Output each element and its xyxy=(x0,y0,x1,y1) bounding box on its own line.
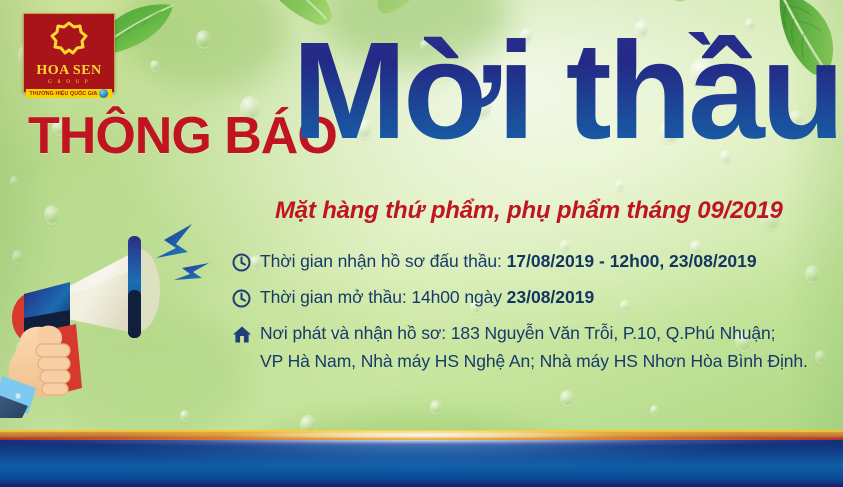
water-droplet xyxy=(560,390,574,407)
info-value: 23/08/2019 xyxy=(507,287,595,307)
megaphone-in-hand-illustration xyxy=(0,218,226,422)
clock-icon xyxy=(232,287,252,309)
headline-prefix: THÔNG BÁO xyxy=(28,110,337,162)
info-row-address: Nơi phát và nhận hồ sơ: 183 Nguyễn Văn T… xyxy=(232,322,832,345)
subtitle: Mặt hàng thứ phẩm, phụ phẩm tháng 09/201… xyxy=(275,197,783,225)
national-brand-banner: THƯƠNG HIỆU QUỐC GIA xyxy=(26,89,112,98)
announcement-poster: HOA SEN G R O U P THƯƠNG HIỆU QUỐC GIA T… xyxy=(0,0,843,487)
globe-icon xyxy=(99,89,108,98)
sound-bolt xyxy=(156,224,209,280)
info-value: 17/08/2019 - 12h00, 23/08/2019 xyxy=(507,251,757,271)
lotus-star-icon xyxy=(49,21,89,61)
clock-icon xyxy=(232,251,252,273)
logo-group-label: G R O U P xyxy=(48,80,90,85)
water-droplet xyxy=(10,176,19,187)
water-droplet xyxy=(615,180,624,191)
hoa-sen-group-logo: HOA SEN G R O U P THƯƠNG HIỆU QUỐC GIA xyxy=(23,13,115,93)
info-text-address-line1: Nơi phát và nhận hồ sơ: 183 Nguyễn Văn T… xyxy=(260,322,775,345)
footer-bar xyxy=(0,432,843,487)
national-brand-text: THƯƠNG HIỆU QUỐC GIA xyxy=(30,91,98,97)
water-droplet xyxy=(430,400,442,415)
headline-main: Mời thầu xyxy=(292,22,841,160)
info-text-opening-time: Thời gian mở thầu: 14h00 ngày 23/08/2019 xyxy=(260,286,594,309)
info-label: Thời gian nhận hồ sơ đấu thầu: xyxy=(260,251,507,271)
water-droplet xyxy=(650,405,659,416)
info-text-submission-time: Thời gian nhận hồ sơ đấu thầu: 17/08/201… xyxy=(260,250,757,273)
info-block: Thời gian nhận hồ sơ đấu thầu: 17/08/201… xyxy=(232,250,832,372)
info-row-opening-time: Thời gian mở thầu: 14h00 ngày 23/08/2019 xyxy=(232,286,832,309)
info-text-address-line2: VP Hà Nam, Nhà máy HS Nghệ An; Nhà máy H… xyxy=(260,351,832,372)
footer-violet-glow xyxy=(0,440,843,447)
logo-brand-name: HOA SEN xyxy=(36,64,101,78)
home-icon xyxy=(232,323,252,345)
info-label: Thời gian mở thầu: 14h00 ngày xyxy=(260,287,507,307)
info-row-submission-time: Thời gian nhận hồ sơ đấu thầu: 17/08/201… xyxy=(232,250,832,273)
footer-hairline xyxy=(0,438,843,440)
